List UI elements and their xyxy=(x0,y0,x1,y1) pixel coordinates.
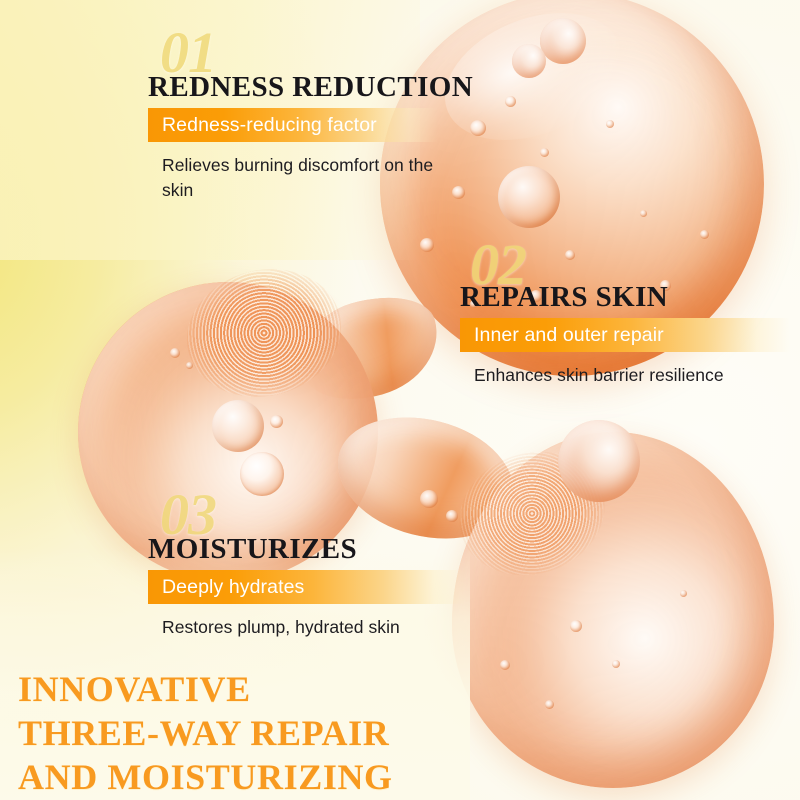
feature-description-1: Relieves burning discomfort on the skin xyxy=(148,153,462,201)
headline-line-1: INNOVATIVE xyxy=(18,668,393,712)
feature-highlight-text-1: Redness-reducing factor xyxy=(148,114,377,137)
feature-highlight-bar-2: Inner and outer repair xyxy=(460,318,724,352)
feature-block-2: 02 REPAIRS SKIN Inner and outer repair E… xyxy=(460,282,724,405)
feature-highlight-bar-3: Deeply hydrates xyxy=(148,570,400,604)
micro-bubble xyxy=(540,148,549,157)
bottom-headline: INNOVATIVE THREE-WAY REPAIR AND MOISTURI… xyxy=(18,668,393,800)
micro-bubble xyxy=(270,415,283,428)
feature-highlight-text-2: Inner and outer repair xyxy=(460,324,664,347)
feature-block-3: 03 MOISTURIZES Deeply hydrates Restores … xyxy=(148,534,400,657)
micro-bubble xyxy=(680,590,687,597)
micro-bubble xyxy=(420,490,438,508)
feature-number-1: 01 xyxy=(160,24,216,82)
feature-highlight-text-3: Deeply hydrates xyxy=(148,576,304,599)
bottom-sphere-bubble xyxy=(452,432,774,788)
promo-poster: 01 REDNESS REDUCTION Redness-reducing fa… xyxy=(0,0,800,800)
feature-description-3: Restores plump, hydrated skin xyxy=(148,615,400,639)
inner-bubble-large xyxy=(498,166,560,228)
micro-bubble xyxy=(170,348,180,358)
micro-bubble xyxy=(570,620,582,632)
micro-bubble xyxy=(612,660,620,668)
micro-bubble xyxy=(505,96,516,107)
satellite-bubble xyxy=(558,420,640,502)
feature-number-3: 03 xyxy=(160,486,216,544)
headline-line-2: THREE-WAY REPAIR xyxy=(18,712,393,756)
feature-description-2: Enhances skin barrier resilience xyxy=(460,363,724,387)
micro-bubble xyxy=(186,362,193,369)
feature-block-1: 01 REDNESS REDUCTION Redness-reducing fa… xyxy=(148,72,473,219)
micro-bubble xyxy=(565,250,575,260)
micro-bubble xyxy=(545,700,554,709)
micro-bubble xyxy=(240,452,284,496)
feature-highlight-bar-1: Redness-reducing factor xyxy=(148,108,473,142)
micro-bubble xyxy=(446,510,458,522)
micro-bubble xyxy=(420,238,434,252)
micro-bubble xyxy=(500,660,510,670)
headline-line-3: AND MOISTURIZING xyxy=(18,756,393,800)
micro-bubble xyxy=(700,230,709,239)
micro-bubble xyxy=(640,210,647,217)
bubble-connector-upper xyxy=(289,283,450,414)
satellite-bubble-2 xyxy=(540,18,586,64)
satellite-bubble-3 xyxy=(512,44,546,78)
micro-bubble xyxy=(606,120,614,128)
inner-bubble-large-2 xyxy=(212,400,264,452)
feature-number-2: 02 xyxy=(470,236,526,294)
